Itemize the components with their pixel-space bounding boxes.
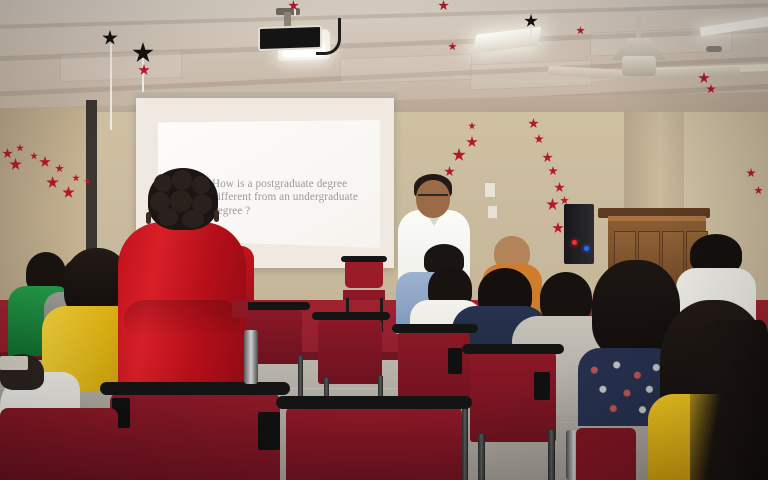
empty-chair-back — [345, 258, 383, 288]
chair-chrome-bracket — [244, 330, 258, 384]
chair-back — [110, 392, 280, 480]
chair-back — [0, 408, 118, 480]
chair-armrest — [276, 396, 472, 409]
chair-bracket — [258, 412, 280, 450]
chair-chrome-bracket — [232, 300, 248, 318]
power-led-blue — [584, 246, 589, 251]
wall-switch — [488, 206, 497, 218]
chair-armrest — [240, 302, 310, 310]
ceiling-projector-icon — [258, 25, 322, 51]
chair-armrest — [312, 312, 390, 320]
slide-line-1: How is a postgraduate degree — [212, 178, 398, 191]
dress-shading — [124, 300, 240, 340]
chair-leg — [478, 434, 485, 480]
hair-strand — [690, 320, 768, 480]
chair-leg — [548, 430, 555, 480]
chair-armrest — [100, 382, 290, 395]
power-led-red — [572, 240, 577, 245]
speaker-tower-icon — [564, 204, 594, 264]
chair-leg — [462, 398, 468, 480]
ceiling-fan-icon — [622, 56, 656, 76]
glasses-icon — [418, 194, 448, 202]
empty-chair-armrest — [341, 256, 387, 262]
fan-downrod — [636, 16, 641, 38]
notebook — [0, 356, 28, 370]
smoke-detector-icon — [706, 46, 722, 52]
chair-bracket — [534, 372, 550, 400]
chair-bracket — [448, 348, 462, 374]
earring-right — [214, 210, 219, 222]
hanging-ribbon — [530, 26, 532, 36]
empty-chair-seat — [343, 290, 385, 300]
ceiling-beam — [0, 3, 768, 28]
chair-back — [318, 318, 382, 384]
chair-back — [576, 428, 636, 480]
chair-armrest — [392, 324, 478, 333]
slide-text-block: How is a postgraduate degree different f… — [212, 178, 398, 218]
slide-line-2: different from an undergraduate — [212, 191, 398, 204]
earring-left — [146, 212, 151, 224]
slide-line-3: degree ? — [212, 205, 398, 218]
hanging-ribbon — [110, 44, 112, 130]
chair-armrest — [462, 344, 564, 354]
ceiling-tile — [60, 50, 182, 82]
chair-back — [286, 404, 462, 480]
curly-hair — [148, 168, 218, 230]
auditorium-photo: How is a postgraduate degree different f… — [0, 0, 768, 480]
wall-socket — [484, 182, 496, 198]
